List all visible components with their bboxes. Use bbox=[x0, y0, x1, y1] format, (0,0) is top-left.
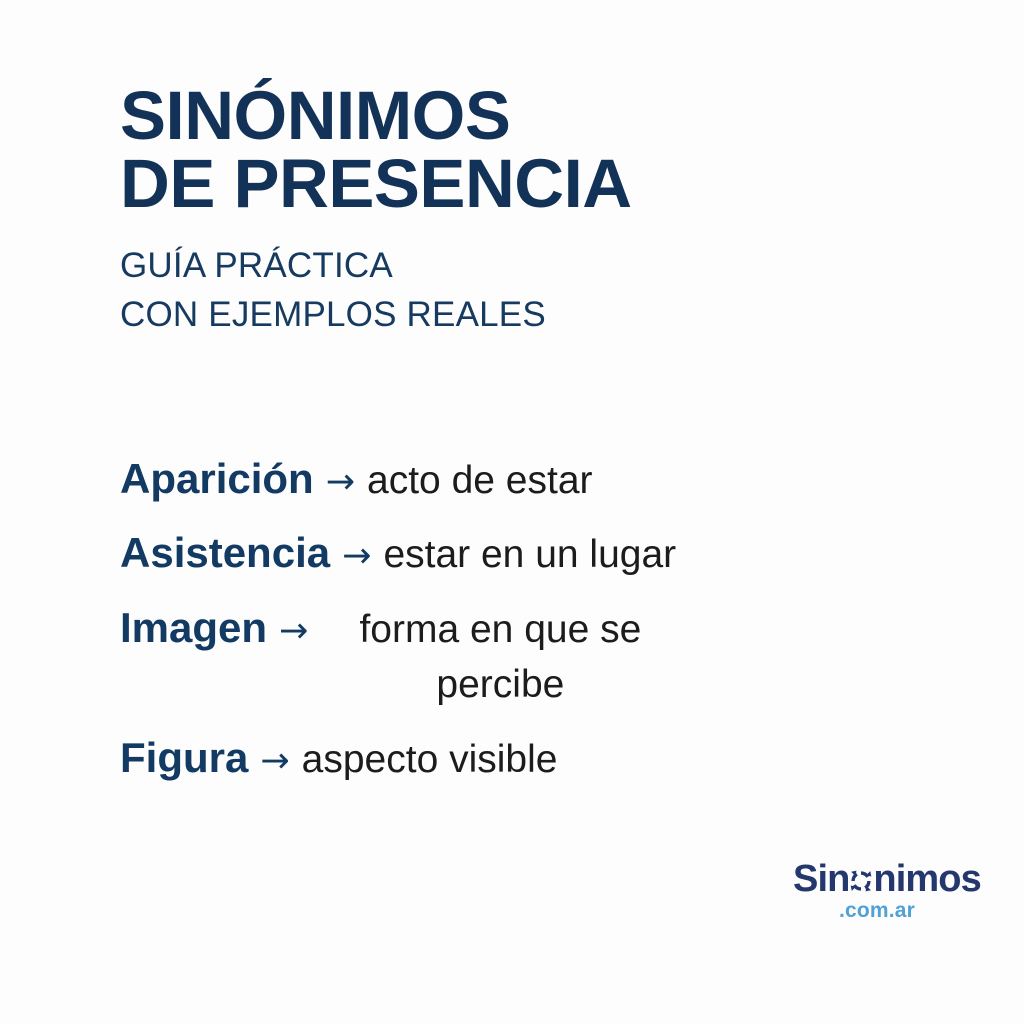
synonym-row: Aparición → acto de estar bbox=[120, 452, 950, 508]
synonym-row: Figura → aspecto visible bbox=[120, 731, 950, 787]
synonym-definition: forma en que se percibe bbox=[320, 602, 680, 713]
synonym-row: Imagen → forma en que se percibe bbox=[120, 601, 950, 713]
logo-wordmark: Sin nimos bbox=[793, 860, 981, 898]
synonym-card: SINÓNIMOS DE PRESENCIA GUÍA PRÁCTICA CON… bbox=[0, 0, 1024, 1024]
heading-block: SINÓNIMOS DE PRESENCIA GUÍA PRÁCTICA CON… bbox=[120, 82, 920, 340]
arrow-icon: → bbox=[267, 609, 320, 655]
synonym-definition: estar en un lugar bbox=[383, 527, 950, 582]
synonym-definition: acto de estar bbox=[367, 453, 950, 508]
arrow-icon: → bbox=[330, 534, 383, 580]
synonym-term: Asistencia bbox=[120, 526, 330, 581]
logo-tld: .com.ar bbox=[793, 900, 961, 921]
synonym-term: Imagen bbox=[120, 601, 267, 656]
synonym-row: Asistencia → estar en un lugar bbox=[120, 526, 950, 582]
synonym-term: Aparición bbox=[120, 452, 314, 507]
synonym-definition: aspecto visible bbox=[302, 732, 950, 787]
page-title: SINÓNIMOS DE PRESENCIA bbox=[120, 82, 920, 219]
synonym-list: Aparición → acto de estar Asistencia → e… bbox=[120, 452, 950, 787]
page-subtitle: GUÍA PRÁCTICA CON EJEMPLOS REALES bbox=[120, 219, 920, 340]
logo-text-part-1: Sin bbox=[793, 860, 849, 898]
synonym-term: Figura bbox=[120, 731, 248, 786]
logo-text-part-2: nimos bbox=[873, 860, 980, 898]
circular-arrows-o-icon bbox=[848, 868, 874, 894]
arrow-icon: → bbox=[314, 460, 367, 506]
site-logo[interactable]: Sin nimos .com.ar bbox=[793, 860, 961, 921]
arrow-icon: → bbox=[248, 739, 301, 785]
